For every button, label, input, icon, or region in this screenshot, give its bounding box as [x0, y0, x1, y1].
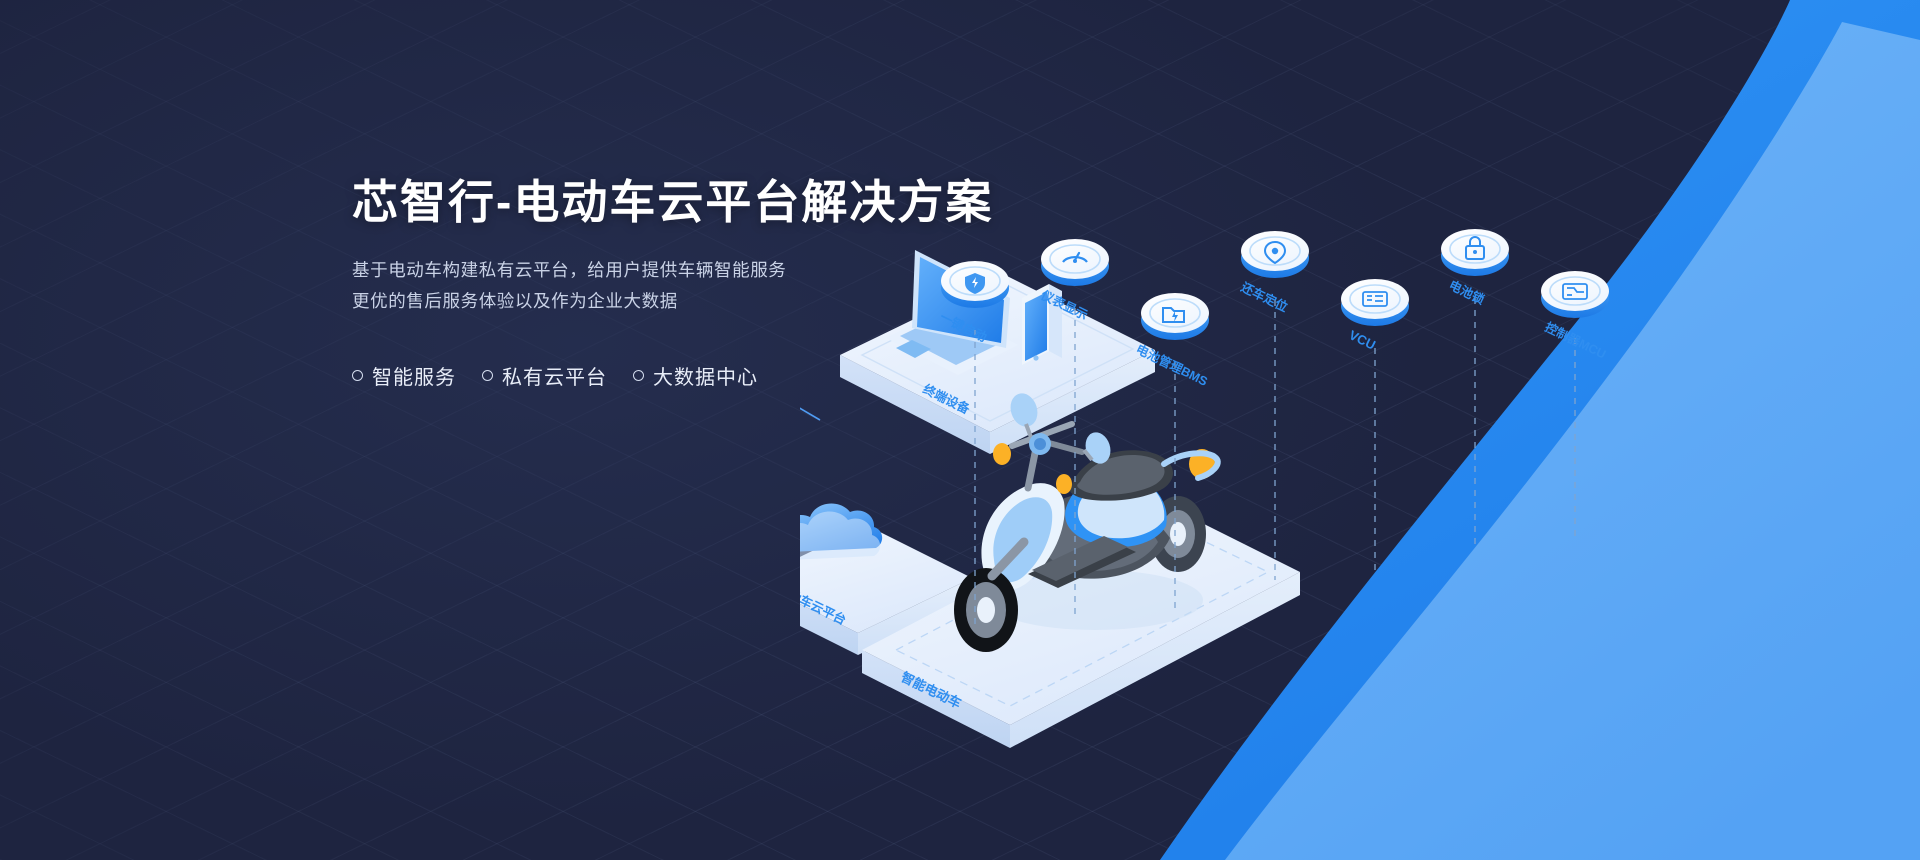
feature-label: 大数据中心 [653, 361, 758, 390]
badge-vcu[interactable]: VCU [1341, 279, 1409, 353]
isometric-illustration: 终端设备 电动车云平台 [800, 180, 1920, 860]
circle-bullet-icon [352, 370, 363, 381]
arrow-terminal-cloud [800, 350, 820, 420]
cloud-icon [800, 503, 882, 560]
feature-item-big-data[interactable]: 大数据中心 [633, 361, 758, 390]
badge-label: 电池锁 [1447, 277, 1488, 307]
badge-mcu[interactable]: 控制器MCU [1541, 271, 1609, 362]
badge-battery-lock[interactable]: 电池锁 [1441, 229, 1509, 307]
solution-banner: 芯智行-电动车云平台解决方案 基于电动车构建私有云平台，给用户提供车辆智能服务 … [0, 0, 1920, 860]
feature-label: 智能服务 [372, 361, 456, 390]
circle-bullet-icon [633, 370, 644, 381]
feature-item-smart-service[interactable]: 智能服务 [352, 361, 456, 390]
badge-label: VCU [1347, 327, 1378, 353]
feature-label: 私有云平台 [502, 361, 607, 390]
badge-return-locate[interactable]: 还车定位 [1238, 231, 1309, 315]
badge-label: 还车定位 [1238, 279, 1291, 315]
circle-bullet-icon [482, 370, 493, 381]
feature-item-private-cloud[interactable]: 私有云平台 [482, 361, 607, 390]
